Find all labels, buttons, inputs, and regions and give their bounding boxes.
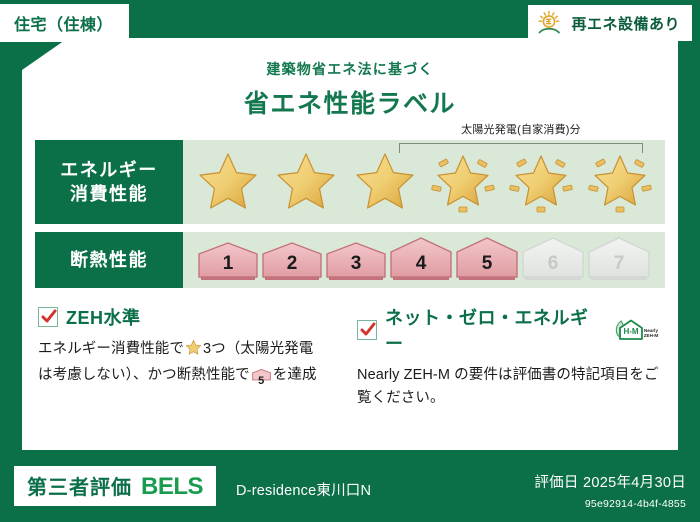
insulation-level-number: 1 [197, 253, 259, 275]
criteria-panels: ZEH水準 エネルギー消費性能で3つ（太陽光発電は考慮しない）、かつ断熱性能で5… [38, 304, 662, 411]
energy-label-line1: エネルギー [60, 158, 158, 182]
bels-certification-box: 第三者評価 BELS [14, 466, 216, 506]
zeh-standard-description: エネルギー消費性能で3つ（太陽光発電は考慮しない）、かつ断熱性能で5を達成 [38, 338, 343, 392]
star-icon [273, 149, 339, 215]
zeh-standard-header: ZEH水準 [38, 304, 343, 330]
insulation-badge-number: 5 [252, 373, 271, 391]
checkbox-checked-icon [38, 307, 58, 327]
zeh-standard-panel: ZEH水準 エネルギー消費性能で3つ（太陽光発電は考慮しない）、かつ断熱性能で5… [38, 304, 343, 411]
insulation-level-scale: 1 2 3 [183, 236, 665, 284]
net-zero-energy-title: ネット・ゼロ・エネルギー [385, 304, 598, 356]
star-icon-solar [587, 149, 653, 215]
insulation-level-4: 4 [389, 236, 453, 280]
evaluation-date: 評価日 2025年4月30日 [534, 471, 686, 492]
insulation-label-text: 断熱性能 [70, 248, 148, 272]
star-icon [195, 149, 261, 215]
solar-annotation-text: 太陽光発電(自家消費)分 [397, 121, 645, 137]
net-zero-energy-panel: ネット・ゼロ・エネルギー H-M Nearly ZEH-M Nearly ZEH… [357, 304, 662, 411]
star-icon [352, 149, 418, 215]
zeh-standard-title: ZEH水準 [66, 304, 141, 330]
insulation-level-6: 6 [521, 236, 585, 280]
star-icon-solar [508, 149, 574, 215]
star-icon-solar [430, 149, 496, 215]
insulation-level-7: 7 [587, 236, 651, 280]
insulation-level-1: 1 [197, 242, 259, 280]
bels-en-label: BELS [141, 473, 203, 501]
insulation-level-number: 2 [261, 253, 323, 275]
renewable-badge-label: 再エネ設備あり [571, 13, 680, 34]
insulation-level-number: 5 [455, 253, 519, 275]
insulation-level-number: 7 [587, 253, 651, 275]
building-type-label: 住宅（住棟） [14, 17, 113, 34]
zeh-text-part1: エネルギー消費性能で [38, 341, 184, 357]
insulation-level-5: 5 [455, 236, 519, 280]
energy-performance-label: エネルギー 消費性能 [35, 140, 183, 224]
insulation-performance-label: 断熱性能 [35, 232, 183, 288]
star-icon-inline [185, 339, 202, 364]
title-block: 建築物省エネ法に基づく 省エネ性能ラベル [22, 59, 678, 120]
title-subtitle: 建築物省エネ法に基づく [22, 59, 678, 79]
energy-label-line2: 消費性能 [70, 182, 148, 206]
zeh-text-part3: は考慮しない）、かつ断熱性能で [38, 367, 250, 383]
net-zero-energy-header: ネット・ゼロ・エネルギー H-M Nearly ZEH-M [357, 304, 662, 356]
nearly-zeh-m-house-logo: H-M Nearly ZEH-M [610, 317, 662, 343]
energy-stars-panel: 太陽光発電(自家消費)分 [183, 140, 665, 224]
star-rating [183, 149, 665, 215]
building-name: D-residence東川口N [236, 479, 371, 500]
insulation-badge-inline: 5 [252, 367, 271, 391]
bels-jp-label: 第三者評価 [27, 471, 132, 500]
insulation-level-3: 3 [325, 242, 387, 280]
insulation-scale-panel: 1 2 3 [183, 232, 665, 288]
insulation-level-number: 4 [389, 253, 453, 275]
zeh-text-part4: を達成 [273, 367, 317, 383]
insulation-level-number: 3 [325, 253, 387, 275]
energy-performance-row: エネルギー 消費性能 太陽光発電(自家消費)分 [35, 140, 665, 224]
svg-text:ZEH-M: ZEH-M [644, 333, 659, 338]
zeh-text-part2: 3つ（太陽光発電 [203, 341, 313, 357]
svg-text:H-M: H-M [623, 327, 638, 336]
label-card: 建築物省エネ法に基づく 省エネ性能ラベル エネルギー 消費性能 太陽光発電(自家… [22, 38, 678, 450]
page-title: 省エネ性能ラベル [22, 84, 678, 120]
net-zero-energy-description: Nearly ZEH-M の要件は評価書の特記項目をご覧ください。 [357, 364, 662, 411]
renewable-energy-badge: 再エネ設備あり [528, 5, 692, 41]
evaluation-id: 95e92914-4b4f-4855 [585, 498, 686, 510]
bels-energy-label: 住宅（住棟） 再エネ設備あり 建築物 [0, 0, 700, 522]
insulation-level-2: 2 [261, 242, 323, 280]
solar-sun-icon [536, 10, 564, 36]
footer: 第三者評価 BELS D-residence東川口N 評価日 2025年4月30… [0, 452, 700, 522]
building-type-tag: 住宅（住棟） [0, 4, 129, 42]
insulation-level-number: 6 [521, 253, 585, 275]
insulation-performance-row: 断熱性能 [35, 232, 665, 288]
checkbox-checked-icon [357, 320, 377, 340]
